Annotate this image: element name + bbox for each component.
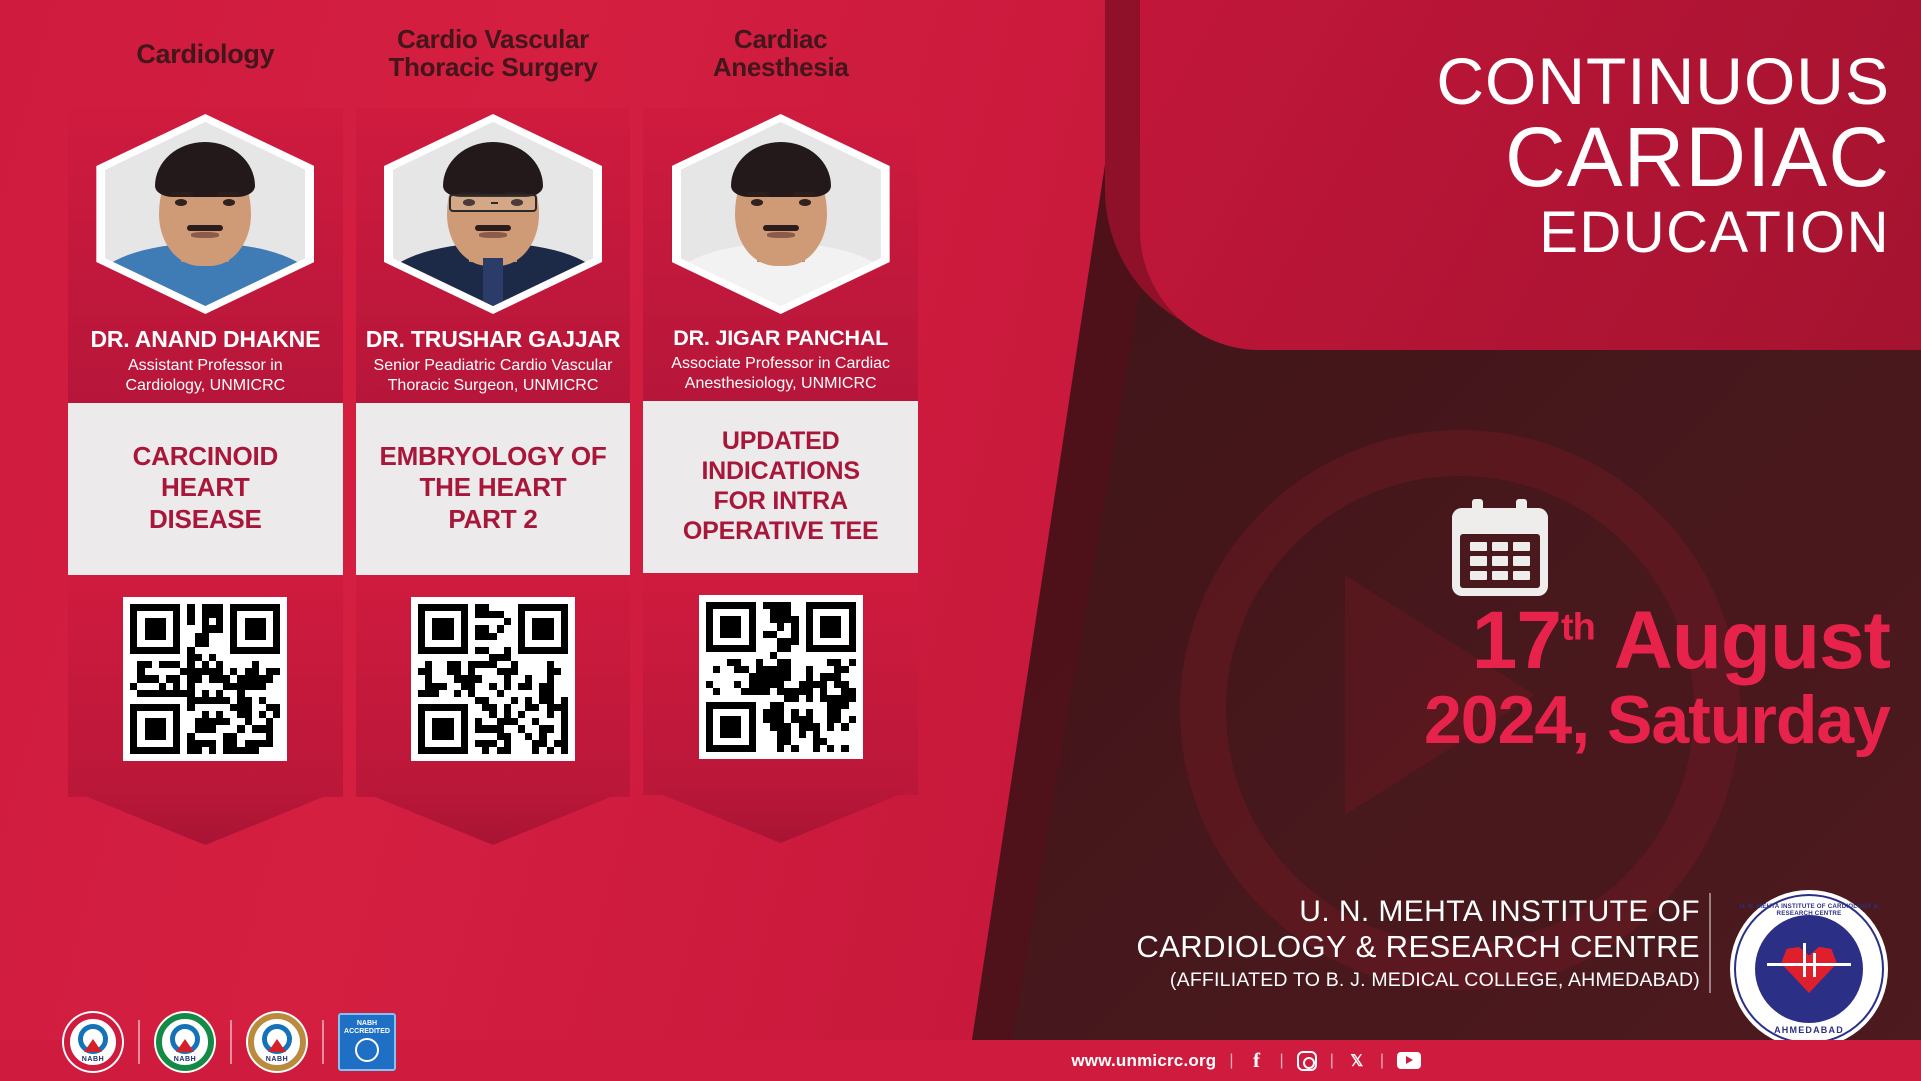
hexagon-photo-border-2 [384, 114, 602, 314]
topic-box-2: EMBRYOLOGY OF THE HEART PART 2 [356, 403, 631, 575]
title-line-1: CONTINUOUS [1190, 48, 1890, 114]
doctor-role-line1-3: Associate Professor in Cardiac [647, 354, 914, 374]
speaker-column-anesthesia: Cardiac Anesthesia [643, 0, 918, 940]
qr-pattern-2 [418, 604, 568, 754]
column-tail-2 [356, 789, 631, 845]
doctor-name-2: DR. TRUSHAR GAJJAR [356, 326, 631, 353]
topic-line2-3: INDICATIONS [701, 457, 859, 485]
nabh-label-2: NABH [154, 1056, 216, 1063]
doctor-role-line2-3: Anesthesiology, UNMICRC [647, 374, 914, 394]
doctor-role-3: Associate Professor in Cardiac Anesthesi… [643, 354, 918, 393]
hexagon-photo-border-1 [96, 114, 314, 314]
title-line-3: EDUCATION [1190, 201, 1890, 266]
doctor-role-line1-2: Senior Peadiatric Cardio Vascular [360, 356, 627, 376]
portrait-illustration-2 [393, 122, 593, 306]
institution-affiliation: (AFFILIATED TO B. J. MEDICAL COLLEGE, AH… [1000, 969, 1700, 992]
topic-text-1: CARCINOID HEART DISEASE [133, 441, 279, 535]
department-line1-3: Cardiac [734, 24, 827, 54]
department-line2-3: Anesthesia [713, 52, 849, 82]
topic-line4-3: OPERATIVE TEE [683, 517, 879, 545]
topic-line3-3: FOR INTRA [714, 487, 848, 515]
doctor-role-line2-2: Thoracic Surgeon, UNMICRC [360, 376, 627, 396]
qr-code-3[interactable] [699, 595, 863, 759]
topic-line3-2: PART 2 [448, 504, 537, 534]
department-header-1: Cardiology [68, 0, 343, 108]
topic-line3-1: DISEASE [149, 504, 262, 534]
nabh-accredited-green-logo: NABH [154, 1011, 216, 1073]
topic-line1-2: EMBRYOLOGY OF [379, 441, 606, 471]
topic-line2-2: THE HEART [420, 472, 567, 502]
unmicrc-emblem-logo: U. N. MEHTA INSTITUTE OF CARDIOLOGY & RE… [1730, 890, 1888, 1048]
doctor-role-line2-1: Cardiology, UNMICRC [72, 376, 339, 396]
topic-line2-1: HEART [161, 472, 250, 502]
department-label-3: Cardiac Anesthesia [713, 26, 849, 82]
doctor-photo-1 [105, 122, 305, 306]
footer-links: www.unmicrc.org | f | | 𝕏 | [1071, 1051, 1421, 1071]
speaker-card-2: DR. TRUSHAR GAJJAR Senior Peadiatric Car… [356, 108, 631, 403]
department-line2-2: Thoracic Surgery [388, 52, 597, 82]
accreditation-logos: NABH NABH NABH NABH ACCREDITED [62, 1009, 396, 1075]
calendar-icon [1452, 508, 1548, 596]
topic-line1-3: UPDATED [722, 427, 840, 455]
qr-pattern-3 [706, 602, 856, 752]
topic-text-3: UPDATED INDICATIONS FOR INTRA OPERATIVE … [683, 426, 879, 546]
qr-area-1 [68, 575, 343, 797]
speaker-column-cardiology: Cardiology [68, 0, 343, 940]
qr-area-3 [643, 573, 918, 795]
instagram-icon[interactable] [1297, 1051, 1317, 1071]
doctor-name-3: DR. JIGAR PANCHAL [643, 326, 918, 351]
speaker-card-3: DR. JIGAR PANCHAL Associate Professor in… [643, 108, 918, 401]
qr-area-2 [356, 575, 631, 797]
nabh-blue-label: NABH ACCREDITED [340, 1020, 394, 1036]
nabh-accredited-gold-logo: NABH [246, 1011, 308, 1073]
nabh-blue-accredited-logo: NABH ACCREDITED [338, 1013, 396, 1071]
doctor-role-line1-1: Assistant Professor in [72, 356, 339, 376]
topic-box-1: CARCINOID HEART DISEASE [68, 403, 343, 575]
emblem-bottom-text: AHMEDABAD [1736, 1025, 1882, 1035]
portrait-illustration-3 [681, 122, 881, 306]
date-year-weekday: 2024, Saturday [1120, 684, 1890, 757]
department-header-2: Cardio Vascular Thoracic Surgery [356, 0, 631, 108]
doctor-photo-2 [393, 122, 593, 306]
photo-frame-2 [356, 108, 631, 314]
footer-separator-3: | [1330, 1052, 1334, 1070]
facebook-icon[interactable]: f [1247, 1051, 1267, 1071]
footer-separator-1: | [1229, 1052, 1233, 1070]
poster-root: Cardiology [0, 0, 1921, 1081]
topic-box-3: UPDATED INDICATIONS FOR INTRA OPERATIVE … [643, 401, 918, 573]
topic-line1-1: CARCINOID [133, 441, 279, 471]
qr-pattern-1 [130, 604, 280, 754]
qr-code-1[interactable] [123, 597, 287, 761]
event-date: 17th August 2024, Saturday [1120, 600, 1890, 757]
doctor-role-2: Senior Peadiatric Cardio Vascular Thorac… [356, 356, 631, 395]
nabh-label-1: NABH [62, 1056, 124, 1063]
nabh-label-3: NABH [246, 1056, 308, 1063]
speaker-column-cvts: Cardio Vascular Thoracic Surgery [356, 0, 631, 940]
logo-divider-1 [138, 1020, 140, 1064]
date-day-month: 17th August [1120, 600, 1890, 682]
column-tail-1 [68, 789, 343, 845]
doctor-name-1: DR. ANAND DHAKNE [68, 326, 343, 353]
date-month: August [1614, 595, 1890, 686]
department-line1-2: Cardio Vascular [397, 24, 589, 54]
speaker-columns: Cardiology [68, 0, 918, 940]
institution-name: U. N. MEHTA INSTITUTE OF CARDIOLOGY & RE… [1000, 895, 1700, 992]
department-label-2: Cardio Vascular Thoracic Surgery [388, 26, 597, 82]
nabh-accredited-red-logo: NABH [62, 1011, 124, 1073]
institution-divider [1709, 893, 1711, 993]
website-link[interactable]: www.unmicrc.org [1071, 1051, 1216, 1071]
department-header-3: Cardiac Anesthesia [643, 0, 918, 108]
date-suffix: th [1561, 607, 1595, 649]
qr-code-2[interactable] [411, 597, 575, 761]
doctor-role-1: Assistant Professor in Cardiology, UNMIC… [68, 356, 343, 395]
logo-divider-3 [322, 1020, 324, 1064]
title-line-2: CARDIAC [1190, 114, 1890, 201]
footer-separator-2: | [1280, 1052, 1284, 1070]
logo-divider-2 [230, 1020, 232, 1064]
institution-line-1: U. N. MEHTA INSTITUTE OF [1000, 895, 1700, 929]
youtube-icon[interactable] [1397, 1052, 1421, 1069]
column-tail-3 [643, 787, 918, 843]
photo-frame-3 [643, 108, 918, 314]
department-label-1: Cardiology [136, 40, 274, 69]
speaker-card-1: DR. ANAND DHAKNE Assistant Professor in … [68, 108, 343, 403]
doctor-photo-3 [681, 122, 881, 306]
footer-separator-4: | [1380, 1052, 1384, 1070]
hexagon-photo-border-3 [672, 114, 890, 314]
date-day: 17 [1472, 595, 1561, 686]
x-twitter-icon[interactable]: 𝕏 [1347, 1051, 1367, 1071]
photo-frame-1 [68, 108, 343, 314]
poster-title: CONTINUOUS CARDIAC EDUCATION [1190, 48, 1890, 266]
institution-line-2: CARDIOLOGY & RESEARCH CENTRE [1000, 929, 1700, 964]
portrait-illustration-1 [105, 122, 305, 306]
topic-text-2: EMBRYOLOGY OF THE HEART PART 2 [379, 441, 606, 535]
